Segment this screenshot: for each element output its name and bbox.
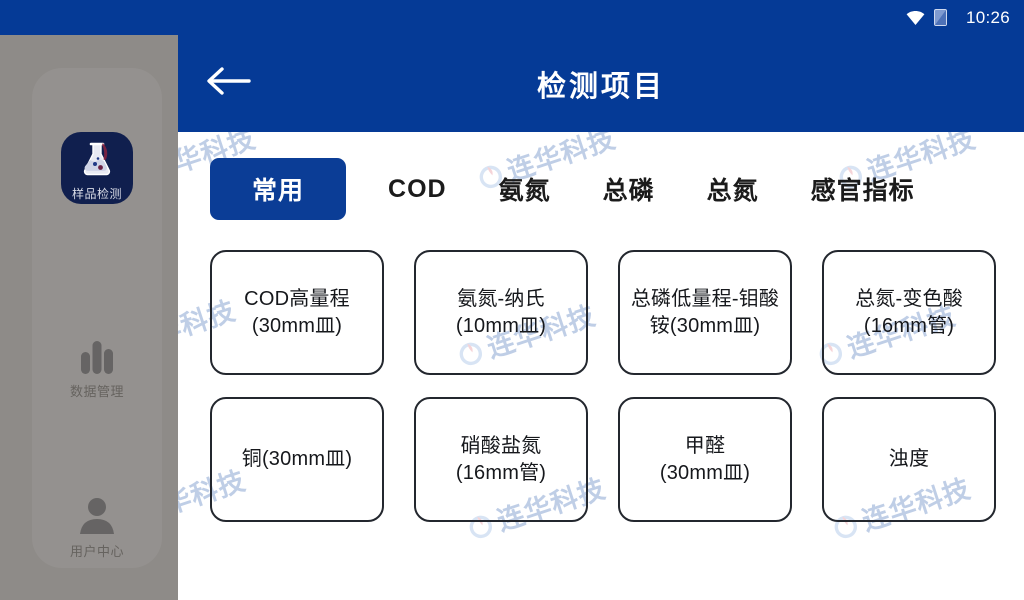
detection-item-card[interactable]: COD高量程 (30mm皿) <box>210 250 384 375</box>
page-header: 检测项目 <box>178 35 1024 132</box>
status-icon-group: 10:26 <box>906 8 1010 28</box>
card-label-line1: 铜(30mm皿) <box>242 448 353 470</box>
arrow-left-icon <box>205 64 251 103</box>
card-label-line1: 氨氮-纳氏 <box>457 288 545 310</box>
card-label-line2: (16mm管) <box>864 315 954 337</box>
card-label-line1: 浊度 <box>889 448 929 470</box>
tab-total-phosphorus[interactable]: 总磷 <box>577 158 681 220</box>
sidebar-item-data-management[interactable]: 数据管理 <box>32 332 162 400</box>
card-label: 总磷低量程-钼酸 铵(30mm皿) <box>626 286 784 339</box>
card-label-line1: COD高量程 <box>244 288 350 310</box>
app-root: 10:26 样品检测 <box>0 0 1024 600</box>
status-time: 10:26 <box>966 8 1010 28</box>
sidebar-item-label: 数据管理 <box>70 381 124 400</box>
detection-item-card[interactable]: 铜(30mm皿) <box>210 397 384 522</box>
sidebar-item-user-center[interactable]: 用户中心 <box>32 492 162 560</box>
card-label-line2: 铵(30mm皿) <box>650 315 761 337</box>
page-content: 连华科技 连华科技 <box>178 132 1024 600</box>
detection-item-card[interactable]: 甲醛 (30mm皿) <box>618 397 792 522</box>
main-page: 检测项目 连华科技 <box>178 35 1024 600</box>
category-tab-bar: 常用 COD 氨氮 总磷 总氮 感官指标 <box>178 132 1024 220</box>
card-label: 铜(30mm皿) <box>237 446 358 472</box>
detection-item-card[interactable]: 总磷低量程-钼酸 铵(30mm皿) <box>618 250 792 375</box>
card-label-line2: (30mm皿) <box>660 462 750 484</box>
user-icon <box>74 492 120 536</box>
detection-item-card[interactable]: 总氮-变色酸 (16mm管) <box>822 250 996 375</box>
card-label-line2: (16mm管) <box>456 462 546 484</box>
card-label-line2: (10mm皿) <box>456 315 546 337</box>
sidebar-item-label: 样品检测 <box>72 185 122 202</box>
card-label-line1: 总磷低量程-钼酸 <box>631 288 779 310</box>
card-label-line1: 甲醛 <box>685 435 725 457</box>
flask-icon <box>78 140 116 183</box>
bar-chart-icon <box>74 332 120 376</box>
sidebar: 样品检测 数据管理 用户中心 <box>0 35 178 600</box>
battery-icon <box>934 9 947 26</box>
wifi-icon <box>906 11 925 25</box>
tab-cod[interactable]: COD <box>362 162 473 217</box>
sidebar-item-label: 用户中心 <box>70 541 124 560</box>
card-label: COD高量程 (30mm皿) <box>239 286 355 339</box>
tab-common[interactable]: 常用 <box>210 158 346 220</box>
card-label: 总氮-变色酸 (16mm管) <box>850 286 968 339</box>
card-label: 硝酸盐氮 (16mm管) <box>451 433 551 486</box>
tab-total-nitrogen[interactable]: 总氮 <box>681 158 785 220</box>
card-label-line1: 硝酸盐氮 <box>461 435 542 457</box>
back-button[interactable] <box>200 60 256 108</box>
sample-detection-tile[interactable]: 样品检测 <box>61 132 133 204</box>
card-label: 浊度 <box>884 446 934 472</box>
detection-item-grid: COD高量程 (30mm皿) 氨氮-纳氏 (10mm皿) 总磷低量程-钼酸 铵(… <box>178 220 1024 522</box>
tab-ammonia-nitrogen[interactable]: 氨氮 <box>473 158 577 220</box>
tab-sensory-index[interactable]: 感官指标 <box>785 158 941 220</box>
sidebar-item-sample-detection[interactable]: 样品检测 <box>32 132 162 204</box>
card-label-line1: 总氮-变色酸 <box>855 288 963 310</box>
card-label: 氨氮-纳氏 (10mm皿) <box>451 286 551 339</box>
card-label-line2: (30mm皿) <box>252 315 342 337</box>
detection-item-card[interactable]: 浊度 <box>822 397 996 522</box>
status-bar: 10:26 <box>0 0 1024 35</box>
page-title: 检测项目 <box>178 63 1024 105</box>
card-label: 甲醛 (30mm皿) <box>655 433 755 486</box>
detection-item-card[interactable]: 氨氮-纳氏 (10mm皿) <box>414 250 588 375</box>
detection-item-card[interactable]: 硝酸盐氮 (16mm管) <box>414 397 588 522</box>
